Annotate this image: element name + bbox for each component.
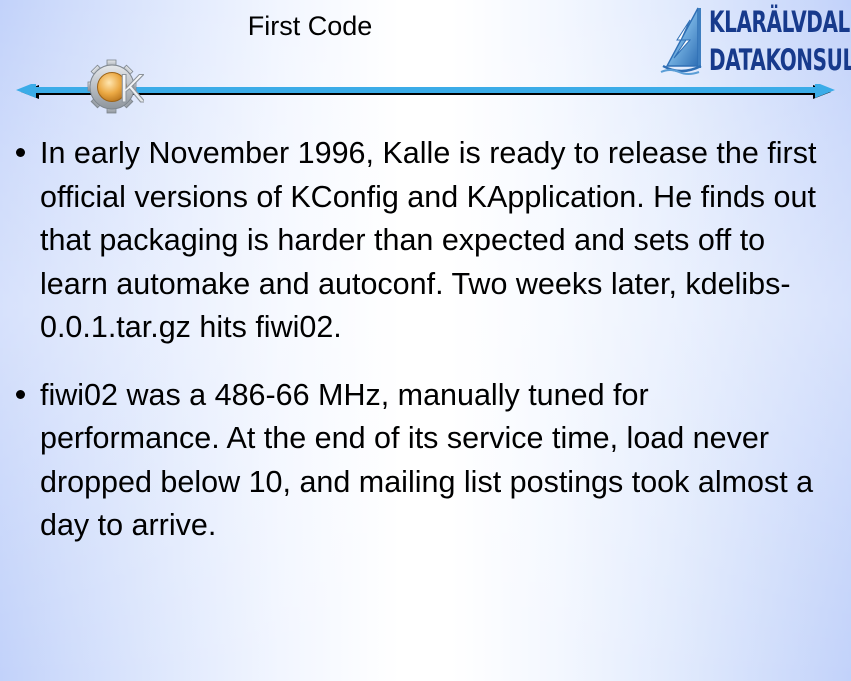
svg-text:K: K [119,67,144,111]
list-item: fiwi02 was a 486-66 MHz, manually tuned … [0,374,851,548]
bullet-text: fiwi02 was a 486-66 MHz, manually tuned … [40,374,823,548]
slide-canvas: First Code [0,0,851,681]
kde-gear-icon: K [86,58,144,120]
slide-body: In early November 1996, Kalle is ready t… [0,132,851,548]
bullet-marker-icon [16,148,25,157]
kdab-line-2: DATAKONSULT AB [709,45,816,75]
bullet-list: In early November 1996, Kalle is ready t… [0,132,851,548]
kdab-logo: KLARÄLVDALENS DATAKONSULT AB [647,4,843,80]
kdab-wordmark: KLARÄLVDALENS DATAKONSULT AB [709,7,843,79]
list-item: In early November 1996, Kalle is ready t… [0,132,851,350]
bullet-text: In early November 1996, Kalle is ready t… [40,132,823,350]
page-title: First Code [0,11,620,42]
kdab-line-1: KLARÄLVDALENS [709,7,816,37]
bullet-marker-icon [16,390,25,399]
sailboat-lightning-icon [657,6,705,78]
